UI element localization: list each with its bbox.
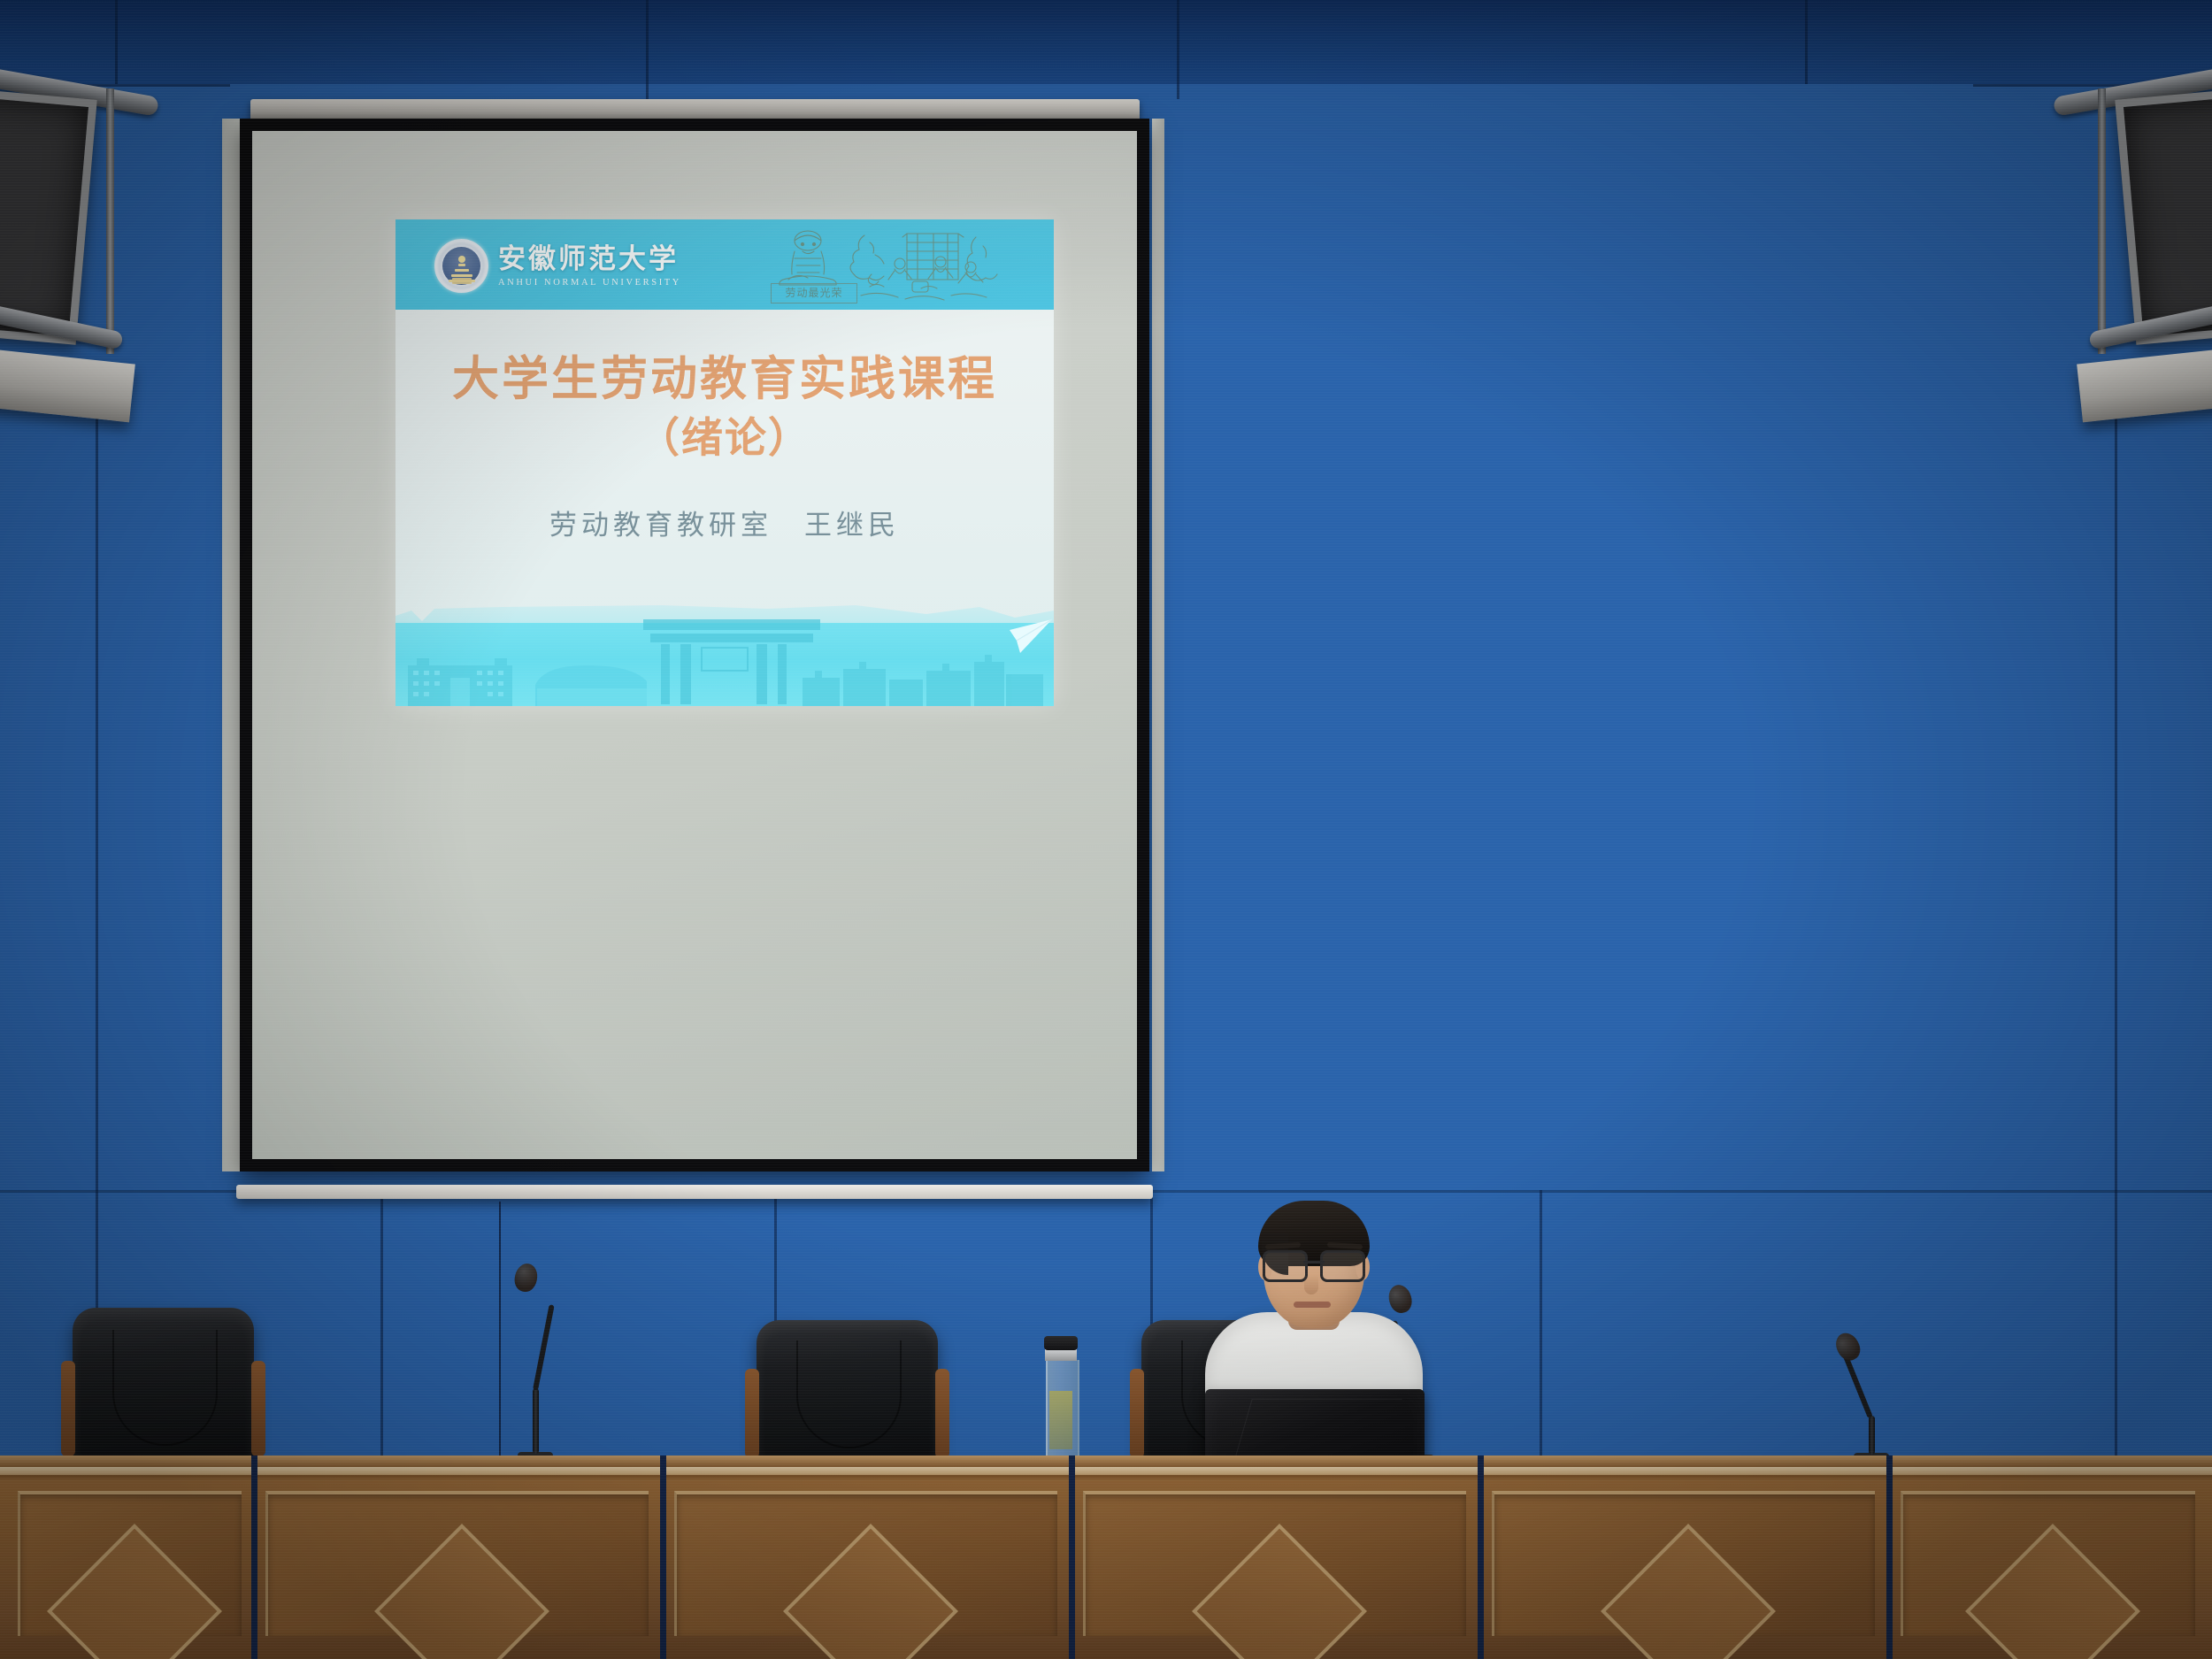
wall-seam (2115, 372, 2117, 1455)
slide-header-band: 安徽师范大学 ANHUI NORMAL UNIVERSITY (396, 219, 1054, 310)
wall-top-band (0, 0, 2212, 84)
glasses-lens-right (1320, 1250, 1365, 1282)
wall-seam (96, 372, 98, 1455)
university-crest-icon (434, 239, 488, 293)
wall-seam (1177, 0, 1179, 99)
crest-year (452, 278, 472, 284)
podium-light-trim (0, 1467, 2212, 1475)
bottle-cap (1044, 1336, 1078, 1350)
mic-head (512, 1262, 540, 1294)
wooden-podium-table (0, 1455, 2212, 1659)
wall-seam (1805, 0, 1808, 84)
podium-panel (1492, 1491, 1875, 1636)
wall-speaker-left (0, 0, 230, 398)
screen-bottom-bar (236, 1185, 1153, 1199)
glasses-bridge (1303, 1261, 1325, 1263)
podium-panel (1901, 1491, 2195, 1636)
podium-top-edge (0, 1455, 2212, 1467)
chair-center (757, 1320, 938, 1463)
labor-illustration: 劳动最光荣 (765, 225, 1031, 310)
screen-left-edge (222, 119, 240, 1171)
podium-panel (1083, 1491, 1466, 1636)
mic-gooseneck (533, 1304, 555, 1390)
slide-presenter: 劳动教育教研室 王继民 (396, 503, 1054, 542)
podium-seam (660, 1455, 666, 1659)
microphone-right[interactable] (1832, 1322, 1911, 1463)
podium-seam (1478, 1455, 1484, 1659)
screen-right-edge (1152, 119, 1164, 1171)
wall-speaker-right (1982, 0, 2212, 398)
microphone-left[interactable] (495, 1263, 575, 1463)
speaker-post (2098, 88, 2106, 354)
chair-armrest-left (61, 1361, 75, 1457)
speaker-shelf (2077, 344, 2212, 423)
speaker-grille (2115, 87, 2212, 345)
bottle-neck-ring (1045, 1349, 1077, 1361)
slide-subtitle: （绪论） (396, 403, 1054, 465)
chair-armrest-right (251, 1361, 265, 1457)
chair-left (73, 1308, 254, 1463)
mic-stem (533, 1388, 539, 1454)
bottle-tea-leaves (1049, 1391, 1072, 1449)
person-nose (1304, 1275, 1318, 1294)
seated-presenter (1212, 1199, 1416, 1464)
slide-title: 大学生劳动教育实践课程 (396, 342, 1054, 409)
speaker-shelf (0, 344, 135, 423)
podium-panel (674, 1491, 1057, 1636)
wall-seam (380, 1190, 383, 1455)
podium-panel (265, 1491, 649, 1636)
podium-seam (251, 1455, 257, 1659)
chair-seam (112, 1330, 218, 1447)
speaker-post (106, 88, 114, 354)
chair-armrest-left (745, 1369, 759, 1457)
podium-panel (18, 1491, 242, 1636)
university-logo: 安徽师范大学 ANHUI NORMAL UNIVERSITY (434, 239, 681, 293)
glass-tea-bottle (1042, 1336, 1079, 1458)
projection-screen: 安徽师范大学 ANHUI NORMAL UNIVERSITY (217, 99, 1168, 1187)
speaker-grille (0, 87, 97, 345)
lecture-hall-photo: 安徽师范大学 ANHUI NORMAL UNIVERSITY (0, 0, 2212, 1659)
podium-dark-trim (0, 1475, 2212, 1481)
glasses-lens-left (1263, 1250, 1308, 1282)
chair-seam (796, 1340, 902, 1448)
chair-armrest-right (935, 1369, 949, 1457)
screen-frame: 安徽师范大学 ANHUI NORMAL UNIVERSITY (240, 119, 1149, 1171)
illustration-caption: 劳动最光荣 (771, 283, 857, 303)
university-name-en: ANHUI NORMAL UNIVERSITY (498, 278, 681, 288)
crest-dot (458, 256, 465, 263)
mic-stem (1869, 1416, 1875, 1455)
wall-seam (646, 0, 649, 99)
presentation-slide: 安徽师范大学 ANHUI NORMAL UNIVERSITY (396, 219, 1054, 706)
mic-head (1832, 1329, 1864, 1364)
mic-gooseneck (1843, 1354, 1873, 1418)
wall-seam (1540, 1190, 1542, 1455)
podium-seam (1069, 1455, 1075, 1659)
university-name-cn: 安徽师范大学 (498, 245, 681, 273)
mic-cable (499, 1202, 501, 1467)
screen-surface: 安徽师范大学 ANHUI NORMAL UNIVERSITY (252, 131, 1137, 1159)
person-mouth (1294, 1302, 1331, 1308)
podium-seam (1886, 1455, 1893, 1659)
chair-armrest-left (1130, 1369, 1144, 1457)
campus-skyline-graphic (396, 600, 1054, 706)
